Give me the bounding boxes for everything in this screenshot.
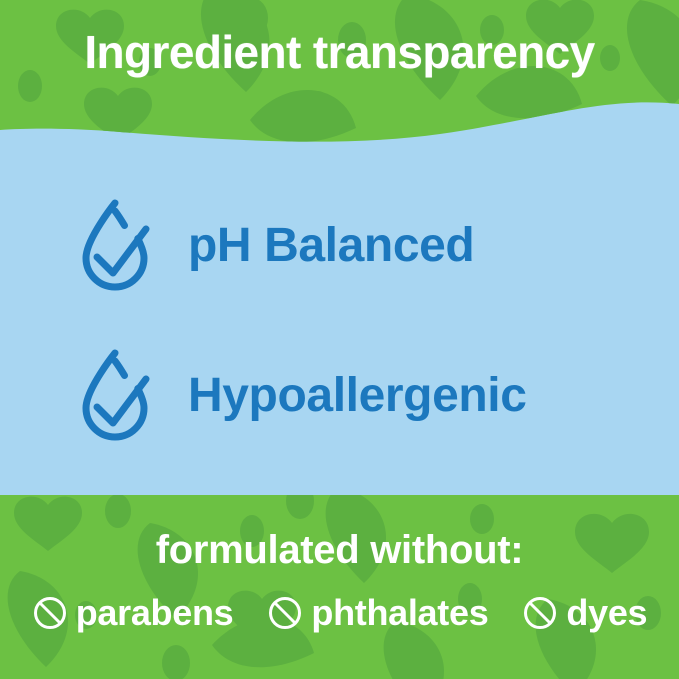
- feature-label: pH Balanced: [188, 218, 474, 273]
- without-item-phthalates: phthalates: [267, 592, 488, 634]
- formulated-without-heading: formulated without:: [0, 528, 679, 573]
- no-entry-icon: [32, 595, 68, 631]
- without-item-label: parabens: [76, 592, 234, 634]
- without-item-parabens: parabens: [32, 592, 234, 634]
- page-title: Ingredient transparency: [0, 28, 679, 76]
- no-entry-icon: [522, 595, 558, 631]
- without-item-label: phthalates: [311, 592, 488, 634]
- droplet-check-icon: [76, 345, 154, 445]
- feature-row-ph-balanced: pH Balanced: [0, 170, 679, 320]
- without-item-label: dyes: [566, 592, 647, 634]
- without-item-dyes: dyes: [522, 592, 647, 634]
- no-entry-icon: [267, 595, 303, 631]
- feature-list: pH Balanced Hypoallergenic: [0, 170, 679, 470]
- feature-label: Hypoallergenic: [188, 368, 527, 423]
- droplet-check-icon: [76, 195, 154, 295]
- bottom-green-band: [0, 495, 679, 679]
- formulated-without-list: parabens phthalates dyes: [0, 592, 679, 634]
- feature-row-hypoallergenic: Hypoallergenic: [0, 320, 679, 470]
- ingredient-transparency-infographic: Ingredient transparency pH Balanced Hypo…: [0, 0, 679, 679]
